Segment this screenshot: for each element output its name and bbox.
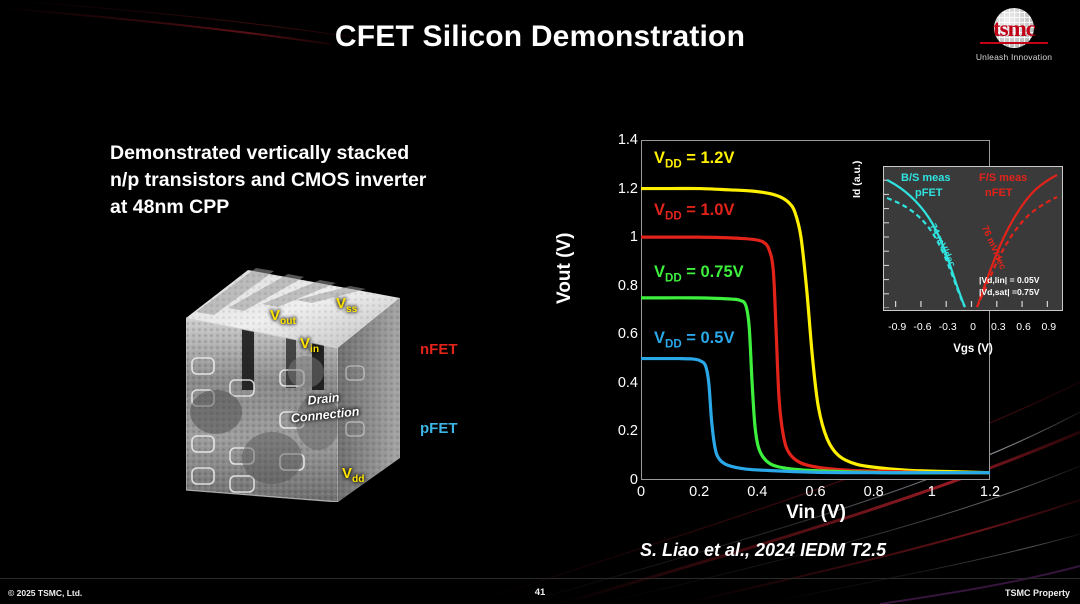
inset-x-tick: 0.9: [1042, 321, 1057, 333]
chart-y-tick: 0.8: [618, 278, 638, 294]
tem-label-pfet: pFET: [420, 420, 458, 437]
series-label-value: = 0.75V: [682, 263, 744, 281]
tem-cross-section-figure: Vout Vss Vin Vdd Drain Connection nFET p…: [186, 262, 426, 502]
chart-x-tick: 1.2: [980, 484, 1000, 500]
series-label-prefix: V: [654, 149, 665, 167]
series-label-subscript: DD: [665, 272, 682, 284]
tem-label-vin: Vin: [300, 335, 319, 355]
tsmc-logo: tsmc Unleash Innovation: [966, 6, 1062, 62]
statement-line-1: Demonstrated vertically stacked: [110, 140, 510, 167]
chart-y-tick: 1.2: [618, 181, 638, 197]
inset-annotation-nfet-device: nFET: [985, 187, 1013, 199]
chart-x-tick: 0.4: [747, 484, 767, 500]
chart-series-label: VDD = 1.2V: [654, 149, 734, 170]
chart-x-tick: 0.6: [805, 484, 825, 500]
chart-y-tick: 1.4: [618, 132, 638, 148]
tem-label-vout: Vout: [270, 307, 296, 327]
chart-x-axis-label: Vin (V): [641, 502, 991, 524]
statement-line-3: at 48nm CPP: [110, 194, 510, 221]
chart-x-tick: 0.2: [689, 484, 709, 500]
chart-x-tick: 0.8: [864, 484, 884, 500]
logo-wordmark: tsmc: [966, 16, 1062, 42]
slide-footer: © 2025 TSMC, Ltd. 41 TSMC Property: [0, 578, 1080, 604]
series-label-subscript: DD: [665, 210, 682, 222]
inset-cond-lin: |Vd,lin| = 0.05V: [979, 275, 1039, 287]
chart-plot-area: VDD = 1.2VVDD = 1.0VVDD = 0.75VVDD = 0.5…: [641, 140, 990, 480]
chart-x-tick: 0: [637, 484, 645, 500]
tem-image: [186, 262, 426, 502]
tem-label-vss: Vss: [336, 295, 357, 315]
inset-x-tick: 0: [970, 321, 976, 333]
inset-annotation-bias-conditions: |Vd,lin| = 0.05V |Vd,sat| =0.75V: [979, 275, 1039, 298]
page-title: CFET Silicon Demonstration: [0, 20, 1080, 54]
inset-annotation-nfet-meas: F/S meas: [979, 172, 1027, 184]
logo-tagline: Unleash Innovation: [966, 52, 1062, 62]
chart-y-tick: 0.6: [618, 326, 638, 342]
footer-property-notice: TSMC Property: [1005, 588, 1070, 598]
series-label-subscript: DD: [665, 158, 682, 170]
chart-y-tick: 0.4: [618, 375, 638, 391]
vtc-chart: Vout (V) Vin (V) 00.20.40.60.811.21.4 00…: [560, 128, 1030, 528]
inset-x-tick: -0.3: [939, 321, 957, 333]
chart-x-tick: 1: [928, 484, 936, 500]
inset-x-tick: -0.6: [913, 321, 931, 333]
chart-series-label: VDD = 0.5V: [654, 329, 734, 350]
tem-label-nfet: nFET: [420, 341, 458, 358]
footer-page-number: 41: [0, 587, 1080, 598]
series-label-value: = 0.5V: [682, 329, 735, 347]
series-label-prefix: V: [654, 263, 665, 281]
statement-block: Demonstrated vertically stacked n/p tran…: [110, 140, 510, 221]
inset-annotation-pfet-device: pFET: [915, 187, 943, 199]
footer-divider: [0, 578, 1080, 579]
logo-underline: [980, 42, 1048, 44]
inset-x-tick: 0.3: [991, 321, 1006, 333]
inset-x-tick: 0.6: [1016, 321, 1031, 333]
logo-mark: tsmc: [966, 6, 1062, 50]
inset-x-axis-label: Vgs (V): [883, 343, 1063, 355]
citation: S. Liao et al., 2024 IEDM T2.5: [640, 540, 886, 561]
tem-label-vdd: Vdd: [342, 465, 364, 485]
inset-y-axis-label: Id (a.u.): [851, 161, 863, 198]
series-label-value: = 1.0V: [682, 201, 735, 219]
series-label-prefix: V: [654, 201, 665, 219]
chart-y-axis-label: Vout (V): [554, 233, 576, 304]
inset-idvg-chart: Id (a.u.) Vgs (V) -0.9-0.6-0.300.30.60.9…: [849, 162, 1070, 362]
inset-x-tick: -0.9: [888, 321, 906, 333]
series-label-value: = 1.2V: [682, 149, 735, 167]
series-label-subscript: DD: [665, 338, 682, 350]
chart-series-label: VDD = 0.75V: [654, 263, 744, 284]
chart-y-tick: 0.2: [618, 423, 638, 439]
chart-y-tick: 1: [630, 229, 638, 245]
inset-annotation-pfet-meas: B/S meas: [901, 172, 951, 184]
statement-line-2: n/p transistors and CMOS inverter: [110, 167, 510, 194]
chart-series-label: VDD = 1.0V: [654, 201, 734, 222]
inset-cond-sat: |Vd,sat| =0.75V: [979, 287, 1039, 299]
series-label-prefix: V: [654, 329, 665, 347]
